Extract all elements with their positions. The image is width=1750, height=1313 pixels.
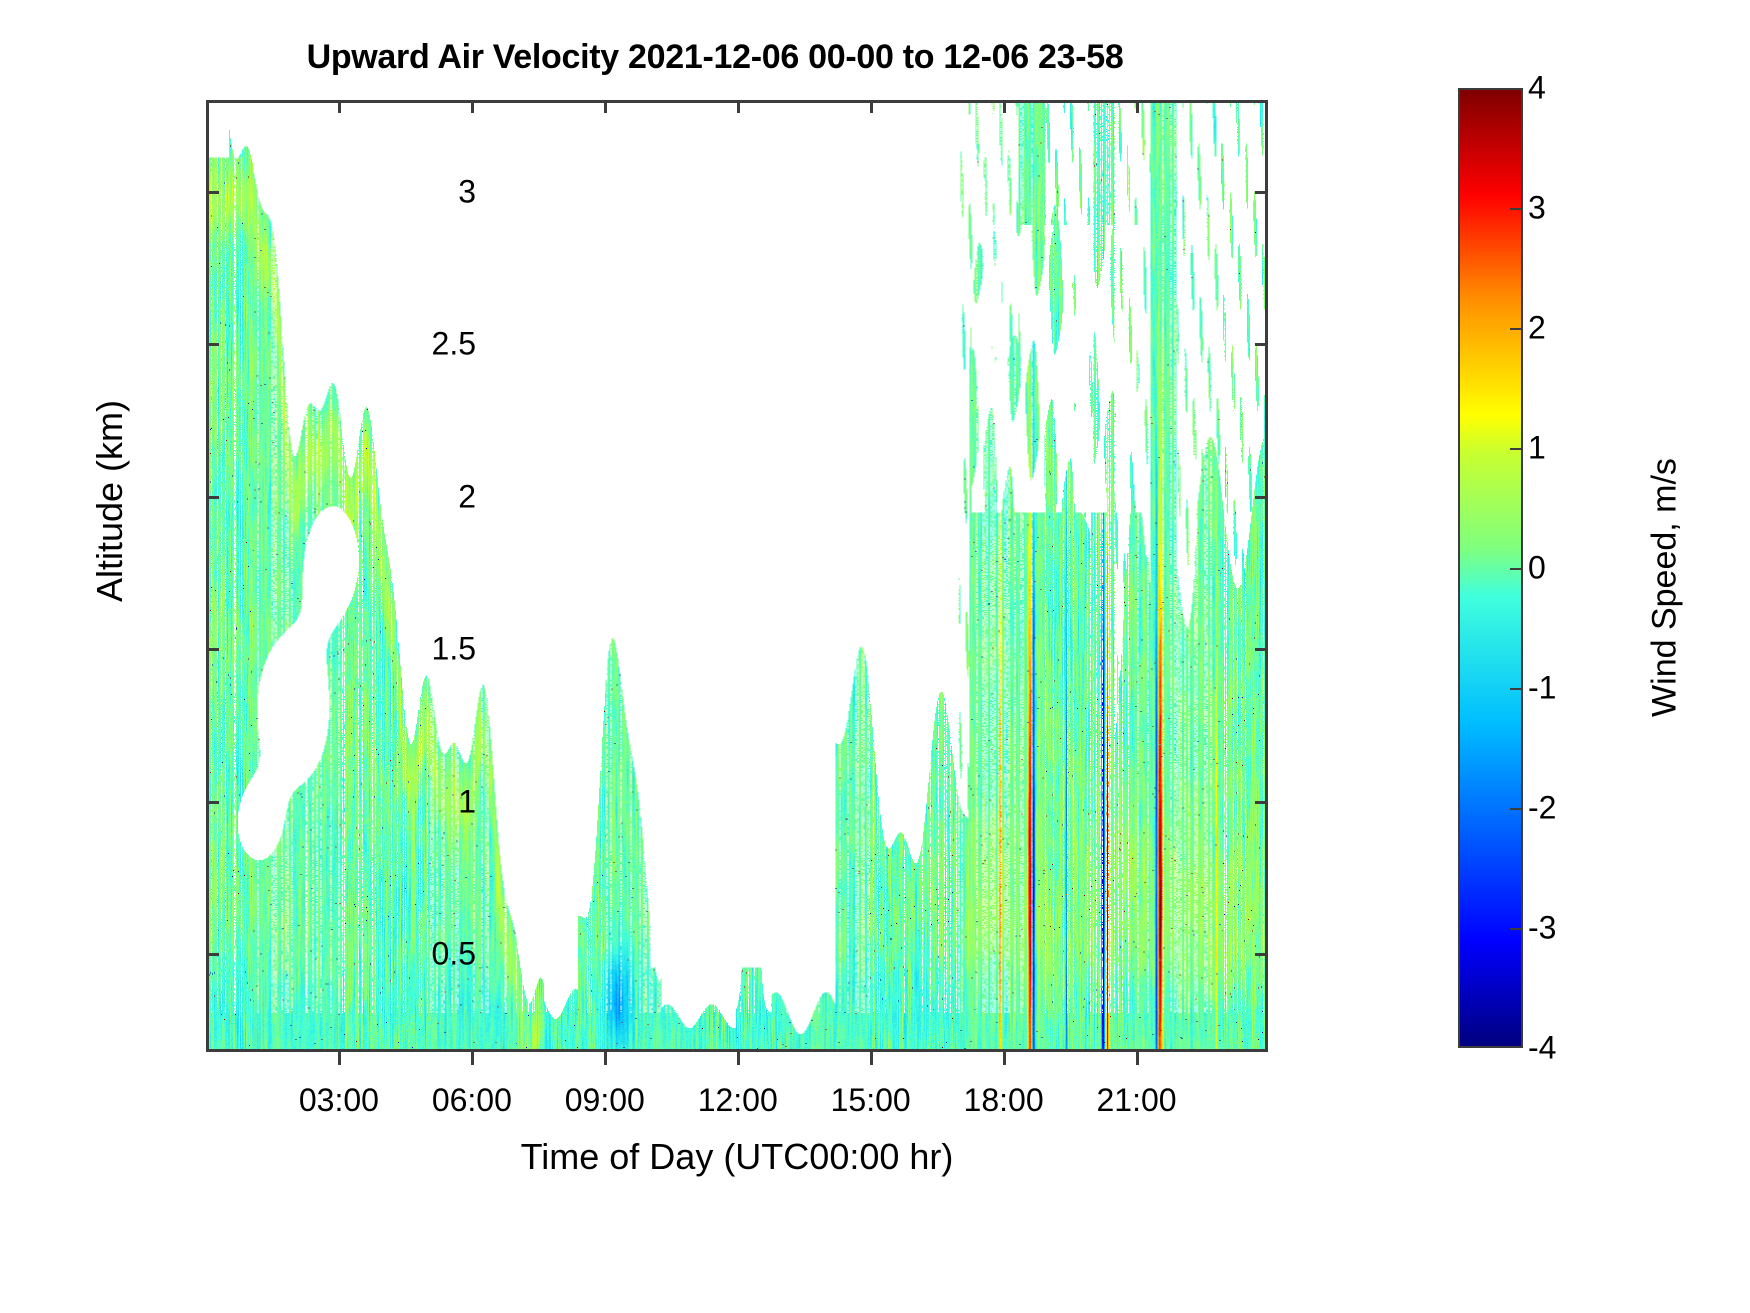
y-tick-mark-right [1255, 343, 1268, 346]
colorbar-tick-label: 4 [1528, 70, 1546, 107]
colorbar-tick-label: -1 [1528, 670, 1556, 707]
y-tick-mark [206, 801, 219, 804]
x-tick-mark [737, 1052, 740, 1065]
y-tick-label: 1 [458, 783, 476, 820]
x-tick-label: 09:00 [565, 1082, 645, 1119]
colorbar-tick-label: -3 [1528, 910, 1556, 947]
colorbar-tick-label: 3 [1528, 190, 1546, 227]
colorbar-label: Wind Speed, m/s [1646, 378, 1685, 798]
x-tick-label: 03:00 [299, 1082, 379, 1119]
y-tick-label: 2.5 [432, 326, 476, 363]
colorbar-tick-label: -2 [1528, 790, 1556, 827]
y-tick-label: 3 [458, 173, 476, 210]
colorbar-tick-mark [1510, 208, 1523, 210]
y-tick-mark [206, 648, 219, 651]
colorbar-tick-label: 0 [1528, 550, 1546, 587]
x-tick-mark-top [870, 100, 873, 113]
y-tick-mark [206, 953, 219, 956]
chart-title: Upward Air Velocity 2021-12-06 00-00 to … [0, 38, 1430, 77]
x-tick-mark-top [338, 100, 341, 113]
y-tick-mark [206, 343, 219, 346]
colorbar-tick-mark [1510, 928, 1523, 930]
y-tick-mark-right [1255, 496, 1268, 499]
colorbar-tick-mark [1510, 328, 1523, 330]
y-tick-mark-right [1255, 191, 1268, 194]
plot-axes [206, 100, 1268, 1052]
colorbar-tick-mark [1510, 448, 1523, 450]
x-tick-mark-top [604, 100, 607, 113]
x-tick-mark [604, 1052, 607, 1065]
heatmap-data-canvas [209, 103, 1265, 1049]
colorbar-tick-label: 2 [1528, 310, 1546, 347]
x-tick-mark-top [1003, 100, 1006, 113]
y-tick-label: 2 [458, 478, 476, 515]
colorbar-tick-label: 1 [1528, 430, 1546, 467]
colorbar-tick-mark [1510, 688, 1523, 690]
x-tick-label: 18:00 [964, 1082, 1044, 1119]
y-axis-label: Altitude (km) [89, 331, 131, 671]
y-tick-mark [206, 496, 219, 499]
x-tick-mark [1136, 1052, 1139, 1065]
x-tick-mark [1003, 1052, 1006, 1065]
y-tick-mark-right [1255, 648, 1268, 651]
y-tick-mark-right [1255, 953, 1268, 956]
x-tick-label: 06:00 [432, 1082, 512, 1119]
x-tick-label: 15:00 [831, 1082, 911, 1119]
x-tick-mark-top [1136, 100, 1139, 113]
x-tick-mark [471, 1052, 474, 1065]
y-tick-label: 1.5 [432, 631, 476, 668]
x-tick-mark-top [471, 100, 474, 113]
x-tick-mark [870, 1052, 873, 1065]
x-axis-label: Time of Day (UTC00:00 hr) [206, 1136, 1268, 1178]
x-tick-mark [338, 1052, 341, 1065]
heatmap-canvas-holder [209, 103, 1265, 1049]
colorbar-tick-mark [1510, 808, 1523, 810]
y-tick-mark [206, 191, 219, 194]
x-tick-label: 21:00 [1096, 1082, 1176, 1119]
x-tick-label: 12:00 [698, 1082, 778, 1119]
x-tick-mark-top [737, 100, 740, 113]
chart-figure: Upward Air Velocity 2021-12-06 00-00 to … [0, 0, 1750, 1313]
y-tick-label: 0.5 [432, 936, 476, 973]
colorbar-tick-mark [1510, 568, 1523, 570]
y-tick-mark-right [1255, 801, 1268, 804]
colorbar-tick-label: -4 [1528, 1030, 1556, 1067]
